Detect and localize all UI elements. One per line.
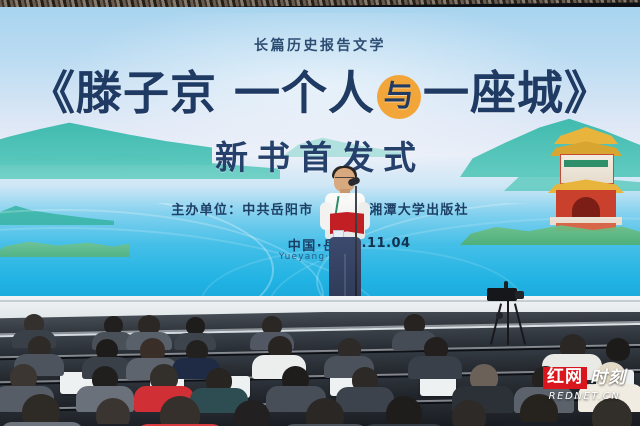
banner-kicker: 长篇历史报告文学 [0,35,640,55]
watermark-brand-white: 时刻 [590,369,626,388]
audience-head-foreground [160,396,200,426]
audience-shoulders [336,387,394,412]
audience-head-foreground [96,398,130,426]
audience-head-foreground [306,398,344,426]
video-camera-body [487,288,517,301]
speaker-figure [316,168,374,310]
audience-head-foreground [452,400,486,426]
tripod-pan-knob [496,312,503,319]
banner-main-title: 《滕子京 一个人与一座城》 [0,64,640,122]
audience-head [606,338,630,361]
video-camera-lens [515,291,524,299]
watermark-brand-row: 红网 时刻 [543,367,626,389]
title-highlight-badge: 与 [377,75,421,119]
screenshot-root: 长篇历史报告文学 《滕子京 一个人与一座城》 新书首发式 主办单位：中共岳阳市湘… [0,0,640,426]
audience-shoulders-foreground [0,422,84,426]
organizer-right-text: 湘潭大学出版社 [369,203,468,218]
organizer-left-text: 主办单位：中共岳阳市 [171,203,313,218]
watermark-brand-red: 红网 [543,367,587,389]
microphone-stand-pole [355,186,357,311]
audience-shoulders-foreground [498,422,584,426]
audience-head-foreground [234,400,270,426]
title-segment-two: 一座城》 [423,66,611,120]
watermark-url: REDNET.CN [543,391,626,402]
tripod-center-column [507,301,509,345]
title-segment-one: 《滕子京 一个人 [29,66,375,120]
watermark: 红网 时刻 REDNET.CN [543,367,626,402]
stage-floor-edge [0,300,640,302]
audience-shoulders [408,356,462,379]
audience-head-foreground [386,396,422,426]
